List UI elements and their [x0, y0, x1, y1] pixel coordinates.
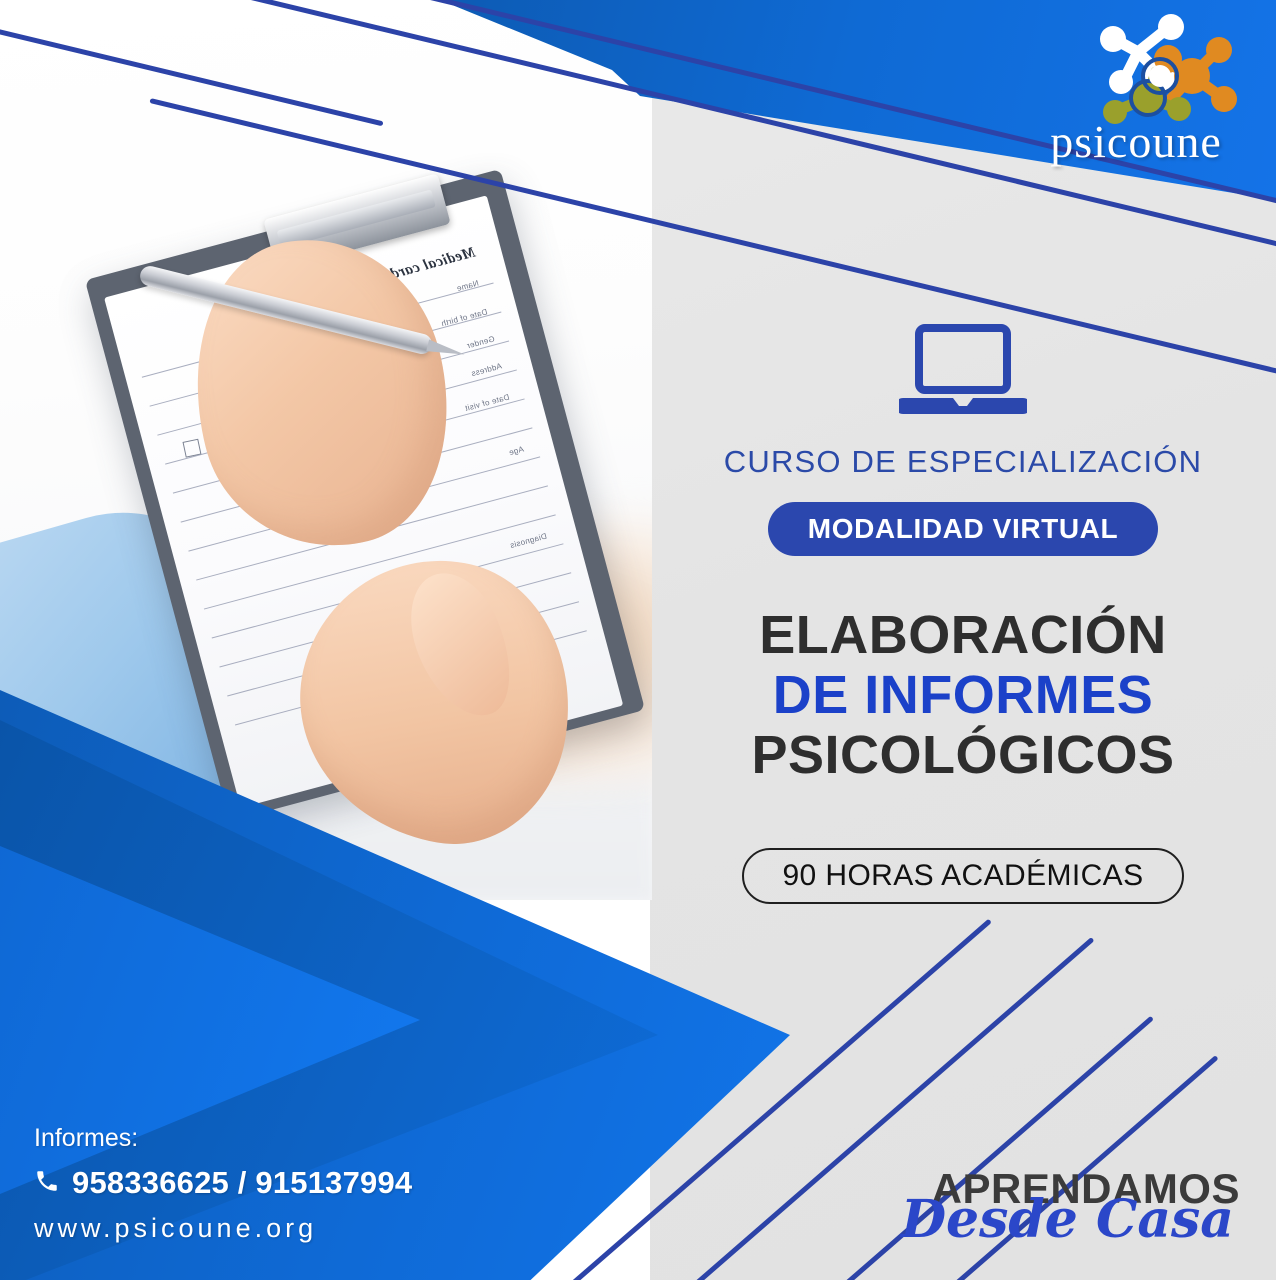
clipboard-form-title: Medical card: [389, 245, 478, 284]
laptop-icon: [899, 320, 1027, 416]
tagline-line-2: Desde Casa: [901, 1194, 1234, 1246]
brand-logo-wordmark: psicoune: [1020, 115, 1252, 168]
hours-badge-wrap: 90 HORAS ACADÉMICAS: [660, 786, 1266, 904]
contact-website[interactable]: www.psicoune.org: [34, 1213, 412, 1244]
course-title-line-3: PSICOLÓGICOS: [660, 726, 1266, 786]
phone-icon: [34, 1168, 60, 1199]
molecule-network-icon: [1020, 14, 1252, 126]
contact-phone-row[interactable]: 958336625 / 915137994: [34, 1165, 412, 1201]
course-title: ELABORACIÓN DE INFORMES PSICOLÓGICOS: [660, 606, 1266, 786]
modality-badge-wrap: MODALIDAD VIRTUAL: [660, 502, 1266, 556]
course-title-line-1: ELABORACIÓN: [660, 606, 1266, 666]
course-kicker: CURSO DE ESPECIALIZACIÓN: [660, 444, 1266, 480]
contact-block: Informes: 958336625 / 915137994 www.psic…: [34, 1124, 412, 1244]
contact-label: Informes:: [34, 1124, 412, 1153]
modality-badge: MODALIDAD VIRTUAL: [768, 502, 1158, 556]
hours-badge: 90 HORAS ACADÉMICAS: [742, 848, 1183, 904]
contact-phone-numbers: 958336625 / 915137994: [72, 1165, 412, 1201]
course-title-line-2: DE INFORMES: [660, 666, 1266, 726]
tagline-block: APRENDAMOS Desde Casa: [901, 1168, 1240, 1246]
content-column: CURSO DE ESPECIALIZACIÓN MODALIDAD VIRTU…: [660, 320, 1266, 904]
brand-logo: psicoune: [1020, 14, 1252, 164]
promo-poster: Medical card Name Date of birth Gender A…: [0, 0, 1276, 1280]
